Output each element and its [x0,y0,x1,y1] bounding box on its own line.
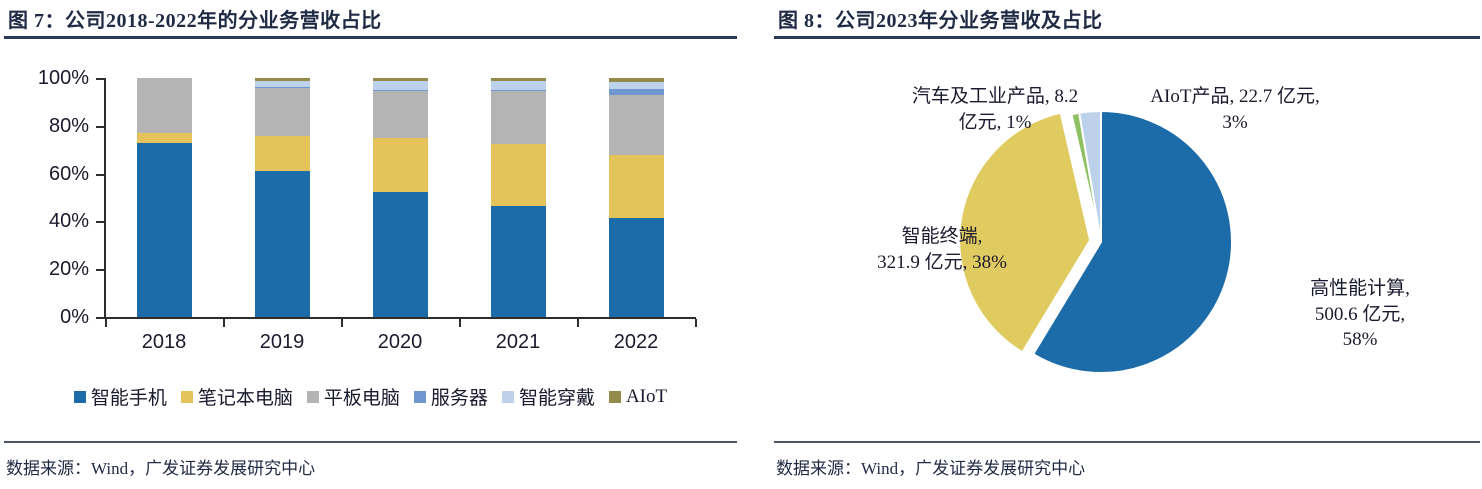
bar-segment-智能穿戴 [255,81,310,87]
bar-segment-平板电脑 [137,78,192,133]
x-axis-tick [341,319,343,327]
pie-label-hpc: 高性能计算, 500.6 亿元, 58% [1260,276,1460,353]
legend-swatch-icon [414,391,426,403]
figure-8-title-rule [774,36,1480,39]
bar-segment-AIoT [255,78,310,81]
x-axis-tick [223,319,225,327]
y-axis-tick-label: 80% [9,115,89,138]
bar-segment-智能手机 [137,143,192,317]
bar-segment-AIoT [373,78,428,81]
bar-segment-平板电脑 [255,88,310,136]
bar-segment-平板电脑 [373,91,428,137]
figure-7-footer-rule [4,441,737,443]
legend-item-笔记本电脑[interactable]: 笔记本电脑 [181,383,293,410]
x-axis-label-2021: 2021 [458,331,578,354]
bar-segment-笔记本电脑 [255,136,310,170]
bar-segment-智能穿戴 [609,82,664,90]
bar-segment-智能穿戴 [373,81,428,90]
y-axis-tick [96,174,105,176]
figure-8-title: 图 8：公司2023年分业务营收及占比 [778,4,1103,33]
x-axis-label-2019: 2019 [222,331,342,354]
legend-swatch-icon [502,391,514,403]
bar-segment-智能手机 [609,218,664,317]
legend-label: 平板电脑 [324,383,400,410]
y-axis-tick [96,317,105,319]
legend-item-智能手机[interactable]: 智能手机 [74,383,167,410]
legend-item-平板电脑[interactable]: 平板电脑 [307,383,400,410]
bar-segment-智能手机 [373,192,428,317]
bar-segment-服务器 [373,90,428,91]
figure-8-panel: 图 8：公司2023年分业务营收及占比 汽车及工业产品, 8.2 亿元, 1% … [770,0,1482,489]
x-axis-label-2020: 2020 [340,331,460,354]
bar-segment-智能手机 [491,206,546,317]
bar-segment-笔记本电脑 [137,133,192,143]
bar-segment-笔记本电脑 [491,144,546,206]
legend-swatch-icon [181,391,193,403]
bar-2020[interactable] [373,78,428,317]
y-axis-tick [96,221,105,223]
y-axis-tick-label: 100% [9,67,89,90]
legend-label: AIoT [626,386,667,408]
legend-label: 笔记本电脑 [198,383,293,410]
legend-swatch-icon [74,391,86,403]
x-axis-tick [695,319,697,327]
y-axis-tick-label: 20% [9,258,89,281]
bar-2018[interactable] [137,78,192,317]
bar-segment-智能手机 [255,171,310,318]
bar-segment-服务器 [255,87,310,88]
figure-7-title-rule [4,36,737,39]
pie-chart: 汽车及工业产品, 8.2 亿元, 1% AIoT产品, 22.7 亿元, 3% … [770,46,1482,391]
legend-label: 服务器 [431,383,488,410]
bar-segment-平板电脑 [609,95,664,155]
figure-8-footer-rule [774,441,1480,443]
legend-item-AIoT[interactable]: AIoT [609,386,667,408]
legend-swatch-icon [307,391,319,403]
bar-segment-服务器 [491,90,546,91]
legend-label: 智能手机 [91,383,167,410]
bar-2022[interactable] [609,78,664,317]
legend-swatch-icon [609,391,621,403]
bar-segment-智能穿戴 [491,81,546,90]
x-axis-line [104,317,696,319]
figure-pair-page: 图 7：公司2018-2022年的分业务营收占比 0%20%40%60%80%1… [0,0,1482,489]
stacked-bar-chart: 0%20%40%60%80%100% 20182019202020212022 [0,46,741,391]
y-axis-tick-label: 0% [9,306,89,329]
pie-label-auto: 汽车及工业产品, 8.2 亿元, 1% [870,84,1120,135]
x-axis-tick [459,319,461,327]
x-axis-label-2022: 2022 [576,331,696,354]
y-axis-tick-label: 40% [9,210,89,233]
figure-7-title: 图 7：公司2018-2022年的分业务营收占比 [8,4,382,33]
bars-layer [105,78,695,317]
y-axis-tick [96,78,105,80]
figure-7-source: 数据来源：Wind，广发证券发展研究中心 [6,454,315,479]
x-axis-tick [577,319,579,327]
figure-7-panel: 图 7：公司2018-2022年的分业务营收占比 0%20%40%60%80%1… [0,0,741,489]
legend-label: 智能穿戴 [519,383,595,410]
bar-chart-legend: 智能手机笔记本电脑平板电脑服务器智能穿戴AIoT [0,383,741,410]
y-axis-tick [96,269,105,271]
bar-segment-笔记本电脑 [373,138,428,192]
legend-item-服务器[interactable]: 服务器 [414,383,488,410]
bar-2021[interactable] [491,78,546,317]
bar-segment-AIoT [491,78,546,81]
x-axis-tick [105,319,107,327]
bar-segment-AIoT [609,78,664,82]
figure-8-source: 数据来源：Wind，广发证券发展研究中心 [776,454,1085,479]
pie-label-terminal: 智能终端, 321.9 亿元, 38% [832,224,1052,275]
bar-2019[interactable] [255,78,310,317]
x-axis-label-2018: 2018 [104,331,224,354]
pie-label-aiot: AIoT产品, 22.7 亿元, 3% [1120,84,1350,135]
bar-segment-笔记本电脑 [609,155,664,218]
legend-item-智能穿戴[interactable]: 智能穿戴 [502,383,595,410]
y-axis-tick-label: 60% [9,163,89,186]
bar-segment-服务器 [609,89,664,94]
bar-segment-平板电脑 [491,91,546,144]
y-axis-tick [96,126,105,128]
